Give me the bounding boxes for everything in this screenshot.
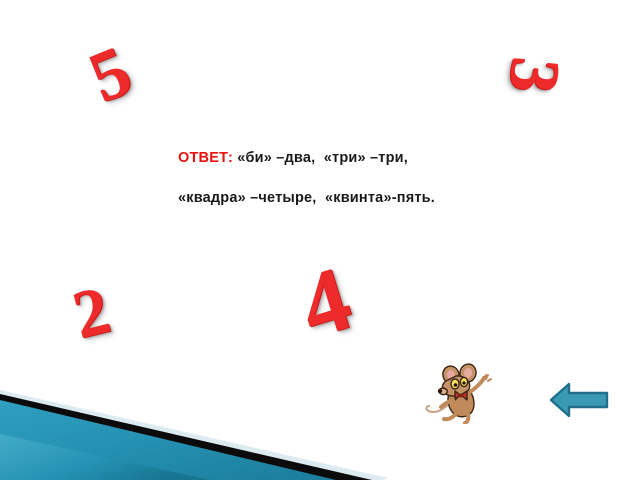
answer-line-1: ОТВЕТ: «би» –два, «три» –три, xyxy=(178,150,568,166)
answer-line-2: «квадра» –четыре, «квинта»-пять. xyxy=(178,190,568,206)
mouse-clipart-icon xyxy=(424,362,492,424)
decor-number-5: 5 xyxy=(80,34,140,114)
diagonal-bands-graphic xyxy=(0,360,640,480)
answer-line-1-text: «би» –два, «три» –три, xyxy=(233,150,408,166)
answer-text-block: ОТВЕТ: «би» –два, «три» –три, «квадра» –… xyxy=(178,150,568,206)
decor-number-2: 2 xyxy=(66,275,115,349)
answer-label: ОТВЕТ: xyxy=(178,150,233,166)
back-arrow-icon[interactable] xyxy=(549,378,609,422)
decor-number-4: 4 xyxy=(290,251,361,352)
slide-canvas: 5 3 2 4 ОТВЕТ: «би» –два, «три» –три, «к… xyxy=(0,0,640,480)
bottom-diagonal-decoration xyxy=(0,360,640,480)
decor-number-3: 3 xyxy=(497,54,570,96)
